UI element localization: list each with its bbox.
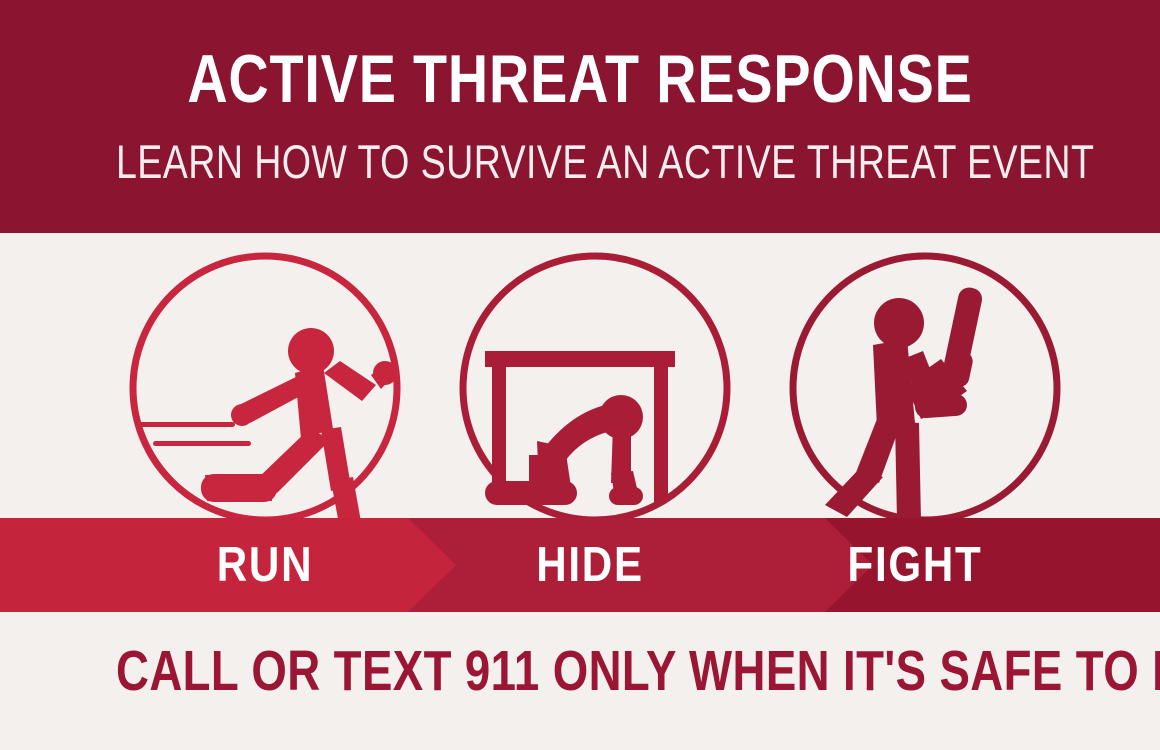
header-banner: ACTIVE THREAT RESPONSE LEARN HOW TO SURV… [0, 0, 1160, 233]
footer-section: CALL OR TEXT 911 ONLY WHEN IT'S SAFE TO … [0, 612, 1160, 750]
steps-chevron-strip: RUN HIDE FIGHT [0, 518, 1160, 612]
icon-cell-fight [755, 233, 1095, 518]
page-title: ACTIVE THREAT RESPONSE [104, 44, 1055, 114]
step-label-hide[interactable]: HIDE [461, 518, 719, 612]
icon-cell-hide [425, 233, 765, 518]
step-label-fight[interactable]: FIGHT [786, 518, 1044, 612]
person-with-bat-icon [755, 233, 1095, 518]
active-threat-response-infographic: ACTIVE THREAT RESPONSE LEARN HOW TO SURV… [0, 0, 1160, 750]
icons-section [0, 233, 1160, 518]
step-label-run[interactable]: RUN [136, 518, 394, 612]
page-subtitle: LEARN HOW TO SURVIVE AN ACTIVE THREAT EV… [116, 137, 1044, 187]
running-person-icon [95, 233, 435, 518]
person-hiding-under-table-icon [425, 233, 765, 518]
footer-call-911-message: CALL OR TEXT 911 ONLY WHEN IT'S SAFE TO … [116, 640, 1044, 702]
icon-cell-run [95, 233, 435, 518]
